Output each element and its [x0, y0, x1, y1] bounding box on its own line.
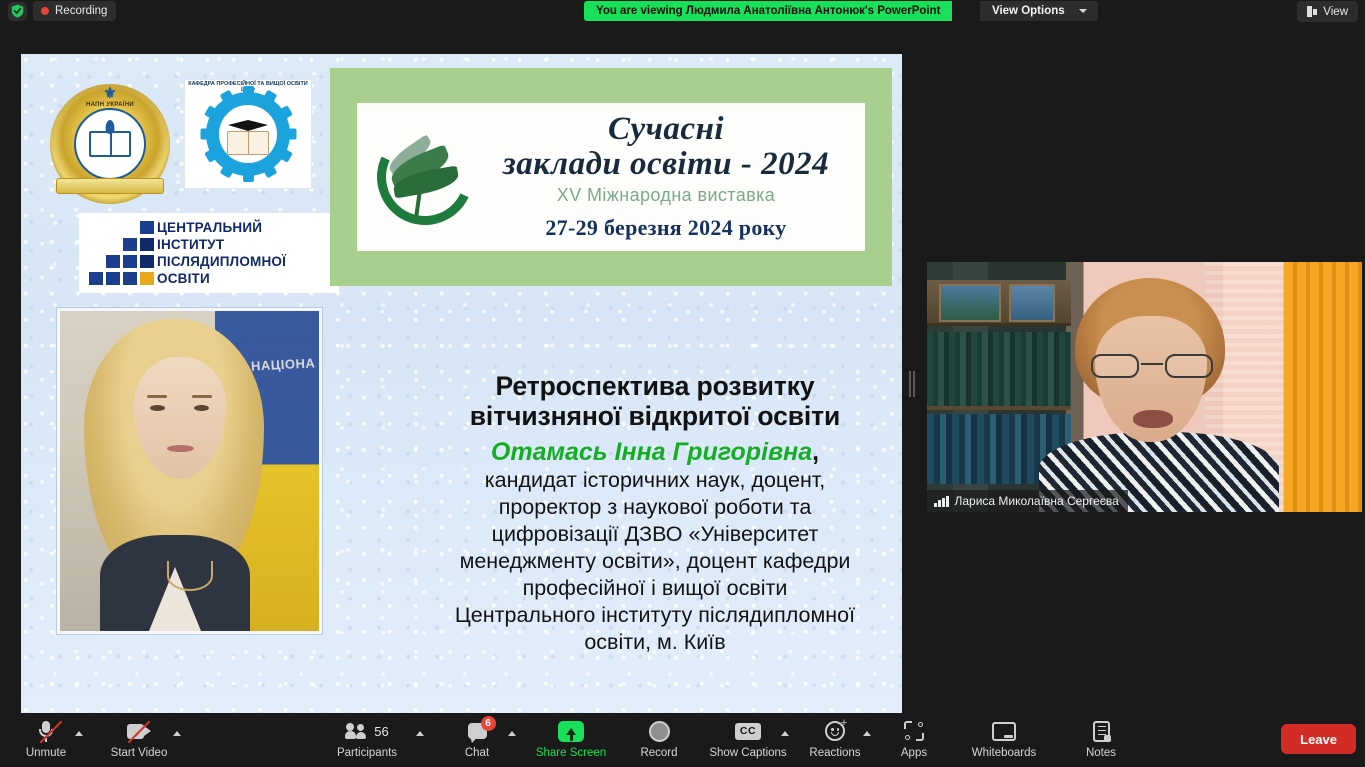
- share-screen-label: Share Screen: [536, 747, 606, 759]
- shared-screen-slide[interactable]: НАПН УКРАЇНИ ⚜ КАФЕДРА ПРОФЕСІЙНОЇ ТА ВИ…: [21, 54, 902, 713]
- chat-chevron-icon[interactable]: [508, 731, 516, 736]
- speaker-name-comma: ,: [812, 438, 819, 466]
- whiteboards-label: Whiteboards: [972, 747, 1037, 759]
- share-screen-icon: [558, 718, 584, 744]
- reactions-label: Reactions: [809, 747, 860, 759]
- bio-line-1: кандидат історичних наук, доцент,: [421, 467, 889, 494]
- show-captions-label: Show Captions: [709, 747, 786, 759]
- record-button[interactable]: Record: [633, 718, 685, 764]
- recording-status-group: Recording: [8, 1, 116, 21]
- top-bar: Recording You are viewing Людмила Анатол…: [0, 0, 1365, 22]
- whiteboards-button[interactable]: Whiteboards: [962, 718, 1046, 764]
- speaker-name: Отамась Інна Григорівна: [491, 438, 812, 466]
- notes-icon: [1093, 718, 1110, 744]
- show-captions-button[interactable]: CC Show Captions: [702, 718, 794, 764]
- bio-line-6: Центрального інституту післядипломної: [421, 602, 889, 629]
- bio-line-4: менеджменту освіти», доцент кафедри: [421, 548, 889, 575]
- leave-button[interactable]: Leave: [1281, 724, 1356, 754]
- reactions-button[interactable]: + Reactions: [806, 718, 864, 764]
- slide-logos: НАПН УКРАЇНИ ⚜ КАФЕДРА ПРОФЕСІЙНОЇ ТА ВИ…: [50, 79, 340, 294]
- chat-bubble-icon: 6: [468, 718, 487, 744]
- sharing-banner: You are viewing Людмила Анатоліївна Анто…: [584, 1, 952, 21]
- start-video-label: Start Video: [111, 747, 168, 759]
- slide-title-line1: Ретроспектива розвитку: [421, 372, 889, 402]
- record-label: Record: [640, 747, 677, 759]
- panel-divider[interactable]: [902, 54, 922, 713]
- exhibition-title-line2: заклади освіти - 2024: [477, 147, 855, 183]
- participants-icon: 56: [345, 718, 388, 744]
- audio-options-chevron-icon[interactable]: [75, 731, 83, 736]
- participant-name-label: Лариса Миколаївна Сергеєва: [955, 494, 1119, 508]
- chat-unread-badge: 6: [481, 716, 496, 731]
- view-button-label: View: [1323, 6, 1348, 18]
- recording-label: Recording: [55, 5, 107, 17]
- participants-label: Participants: [337, 747, 397, 759]
- cipo-line-4: ОСВІТИ: [157, 271, 210, 286]
- security-shield-icon[interactable]: [8, 2, 27, 21]
- notes-button[interactable]: Notes: [1078, 718, 1124, 764]
- participants-chevron-icon[interactable]: [416, 731, 424, 736]
- camera-off-icon: [127, 718, 151, 744]
- chat-label: Chat: [465, 747, 489, 759]
- layout-icon: [1307, 6, 1317, 17]
- cc-text: CC: [735, 723, 761, 740]
- captions-chevron-icon[interactable]: [781, 731, 789, 736]
- slide-title-line2: вітчизняної відкритої освіти: [421, 402, 889, 432]
- bio-line-2: проректор з наукової роботи та: [421, 494, 889, 521]
- participant-video-tile[interactable]: Лариса Миколаївна Сергеєва: [927, 262, 1362, 512]
- view-layout-button[interactable]: View: [1297, 1, 1358, 22]
- chevron-down-icon: [1079, 9, 1087, 13]
- bio-line-5: професійної і вищої освіти: [421, 575, 889, 602]
- exhibition-title-line1: Сучасні: [477, 113, 855, 147]
- unmute-button[interactable]: Unmute: [22, 718, 70, 764]
- exhibition-banner: Сучасні заклади освіти - 2024 XV Міжнаро…: [330, 68, 892, 286]
- slide-text-block: Ретроспектива розвитку вітчизняної відкр…: [421, 372, 889, 656]
- cipo-institute-logo: ЦЕНТРАЛЬНИЙ ІНСТИТУТ ПІСЛЯДИПЛОМНОЇ ОСВІ…: [79, 213, 339, 293]
- view-options-button[interactable]: View Options: [980, 1, 1098, 21]
- apps-label: Apps: [901, 747, 927, 759]
- chat-button[interactable]: 6 Chat: [455, 718, 499, 764]
- meeting-toolbar: Unmute Start Video 56 Participants 6 Cha…: [0, 713, 1365, 767]
- exhibition-dates: 27-29 березня 2024 року: [477, 215, 855, 241]
- speaker-portrait-photo: НАЦІОНА: [57, 308, 322, 634]
- napn-university-seal-icon: НАПН УКРАЇНИ ⚜: [50, 84, 170, 204]
- divider-grip-icon[interactable]: [910, 371, 915, 397]
- exhibition-subtitle: XV Міжнародна виставка: [477, 185, 855, 206]
- department-gear-logo: КАФЕДРА ПРОФЕСІЙНОЇ ТА ВИЩОЇ ОСВІТИ ЦІПО: [184, 79, 312, 189]
- reactions-smiley-icon: +: [825, 718, 845, 744]
- whiteboard-icon: [992, 718, 1016, 744]
- share-screen-button[interactable]: Share Screen: [528, 718, 614, 764]
- zoom-meeting-window: Recording You are viewing Людмила Анатол…: [0, 0, 1365, 767]
- cipo-line-1: ЦЕНТРАЛЬНИЙ: [157, 220, 262, 235]
- exhibition-leaf-logo-icon: [373, 125, 477, 229]
- reactions-chevron-icon[interactable]: [863, 731, 871, 736]
- apps-icon: [904, 718, 924, 744]
- bio-line-7: освіти, м. Київ: [421, 629, 889, 656]
- bio-line-3: цифровізації ДЗВО «Університет: [421, 521, 889, 548]
- start-video-button[interactable]: Start Video: [104, 718, 174, 764]
- cipo-line-3: ПІСЛЯДИПЛОМНОЇ: [157, 254, 286, 269]
- unmute-label: Unmute: [26, 747, 66, 759]
- recording-dot-icon: [41, 7, 49, 15]
- closed-captions-icon: CC: [735, 718, 761, 744]
- view-options-label: View Options: [992, 5, 1065, 17]
- notes-label: Notes: [1086, 747, 1116, 759]
- cipo-line-2: ІНСТИТУТ: [157, 237, 224, 252]
- video-options-chevron-icon[interactable]: [173, 731, 181, 736]
- apps-button[interactable]: Apps: [893, 718, 935, 764]
- signal-bars-icon: [934, 496, 949, 507]
- record-icon: [649, 718, 670, 744]
- participants-count: 56: [374, 724, 388, 739]
- participants-button[interactable]: 56 Participants: [330, 718, 404, 764]
- participant-name-bar: Лариса Миколаївна Сергеєва: [927, 490, 1128, 512]
- microphone-muted-icon: [39, 718, 53, 744]
- recording-indicator[interactable]: Recording: [33, 1, 116, 21]
- sharing-banner-text: You are viewing Людмила Анатоліївна Анто…: [596, 5, 940, 17]
